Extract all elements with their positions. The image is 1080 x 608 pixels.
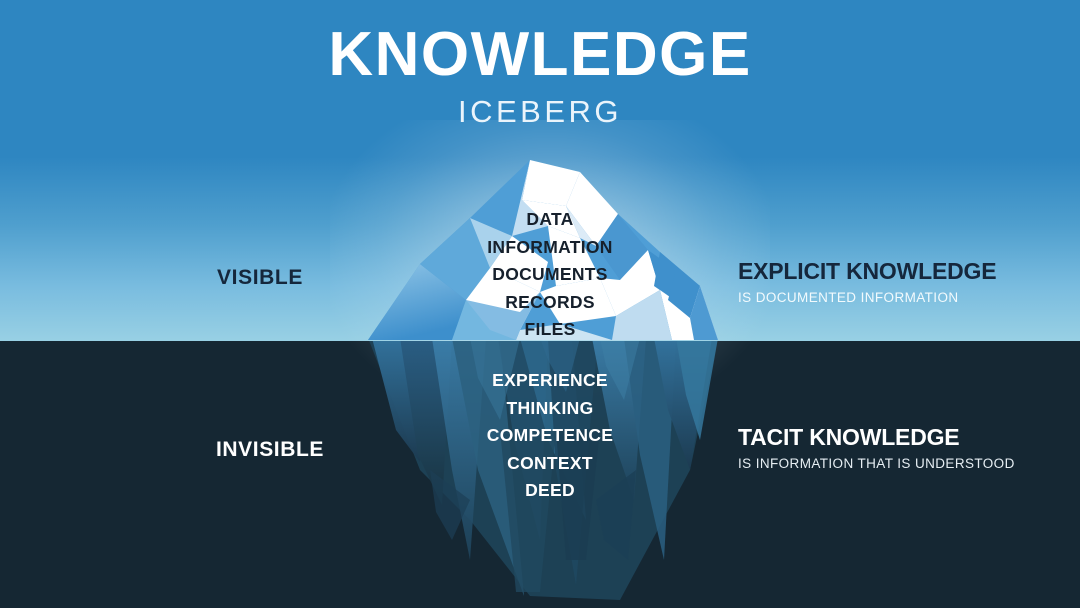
tacit-knowledge-heading: TACIT KNOWLEDGE bbox=[738, 424, 1068, 450]
header: KNOWLEDGE ICEBERG bbox=[0, 22, 1080, 130]
list-item: FILES bbox=[420, 321, 680, 339]
tacit-knowledge-block: TACIT KNOWLEDGE IS INFORMATION THAT IS U… bbox=[738, 424, 1068, 471]
list-item: INFORMATION bbox=[420, 239, 680, 257]
list-item: EXPERIENCE bbox=[420, 372, 680, 390]
explicit-knowledge-heading: EXPLICIT KNOWLEDGE bbox=[738, 258, 1068, 284]
above-water-list: DATA INFORMATION DOCUMENTS RECORDS FILES bbox=[420, 211, 680, 349]
list-item: DOCUMENTS bbox=[420, 266, 680, 284]
list-item: CONTEXT bbox=[420, 455, 680, 473]
list-item: COMPETENCE bbox=[420, 427, 680, 445]
list-item: DEED bbox=[420, 482, 680, 500]
list-item: THINKING bbox=[420, 400, 680, 418]
visible-label: VISIBLE bbox=[120, 266, 400, 290]
explicit-knowledge-subheading: IS DOCUMENTED INFORMATION bbox=[738, 290, 1068, 305]
page-title: KNOWLEDGE bbox=[0, 22, 1080, 88]
page-subtitle: ICEBERG bbox=[0, 94, 1080, 130]
below-water-list: EXPERIENCE THINKING COMPETENCE CONTEXT D… bbox=[420, 372, 680, 510]
tacit-knowledge-subheading: IS INFORMATION THAT IS UNDERSTOOD bbox=[738, 456, 1068, 471]
explicit-knowledge-block: EXPLICIT KNOWLEDGE IS DOCUMENTED INFORMA… bbox=[738, 258, 1068, 305]
iceberg-infographic: KNOWLEDGE ICEBERG VISIBLE INVISIBLE DATA… bbox=[0, 0, 1080, 608]
invisible-label: INVISIBLE bbox=[120, 438, 420, 462]
list-item: RECORDS bbox=[420, 294, 680, 312]
list-item: DATA bbox=[420, 211, 680, 229]
